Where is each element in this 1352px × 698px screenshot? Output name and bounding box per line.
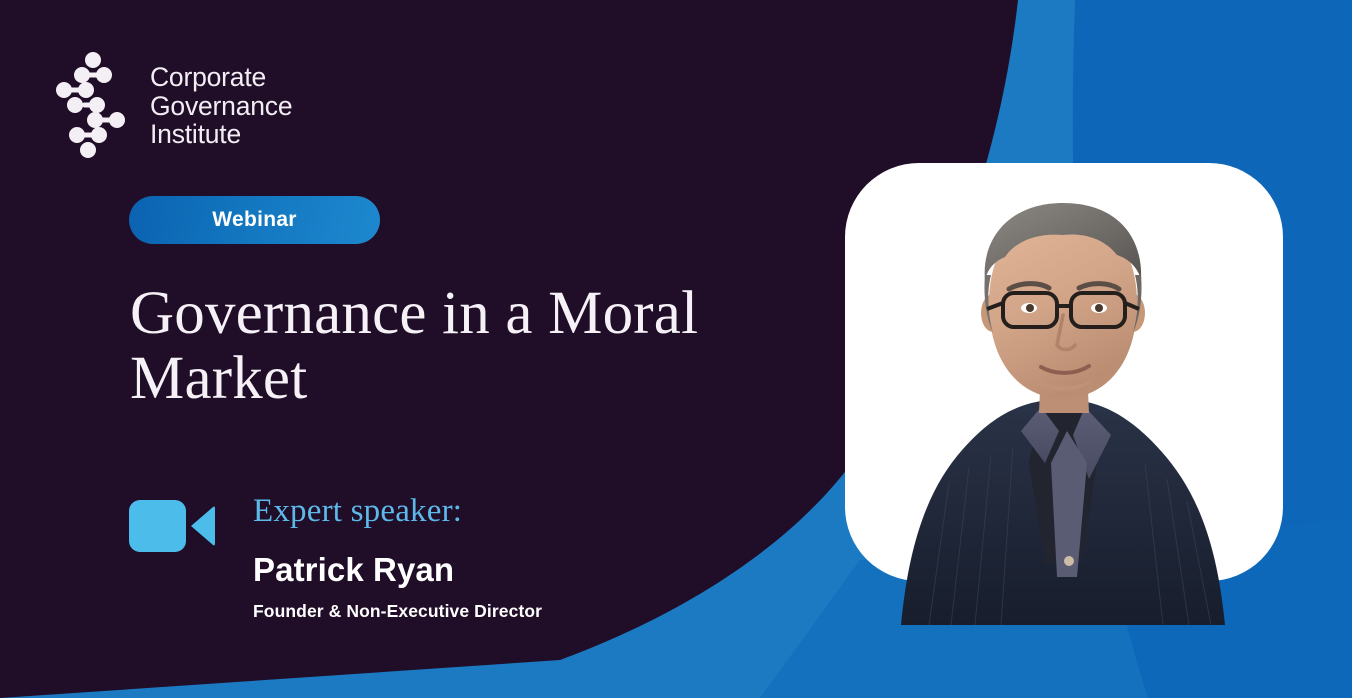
speaker-eyebrow-label: Expert speaker: — [253, 492, 542, 532]
webinar-promo-banner: Corporate Governance Institute Webinar G… — [0, 0, 1352, 698]
webinar-title: Governance in a Moral Market — [130, 282, 750, 411]
webinar-badge[interactable]: Webinar — [129, 196, 380, 244]
speaker-details: Expert speaker: Patrick Ryan Founder & N… — [253, 492, 542, 622]
network-nodes-logo-icon — [55, 50, 133, 162]
brand-logo-text: Corporate Governance Institute — [150, 63, 292, 150]
brand-logo[interactable]: Corporate Governance Institute — [55, 50, 292, 162]
webinar-badge-label: Webinar — [212, 208, 297, 232]
speaker-name: Patrick Ryan — [253, 552, 542, 589]
video-camera-icon — [129, 498, 215, 554]
speaker-photo-card — [845, 163, 1283, 581]
speaker-role: Founder & Non-Executive Director — [253, 601, 542, 622]
speaker-block: Expert speaker: Patrick Ryan Founder & N… — [129, 492, 542, 622]
